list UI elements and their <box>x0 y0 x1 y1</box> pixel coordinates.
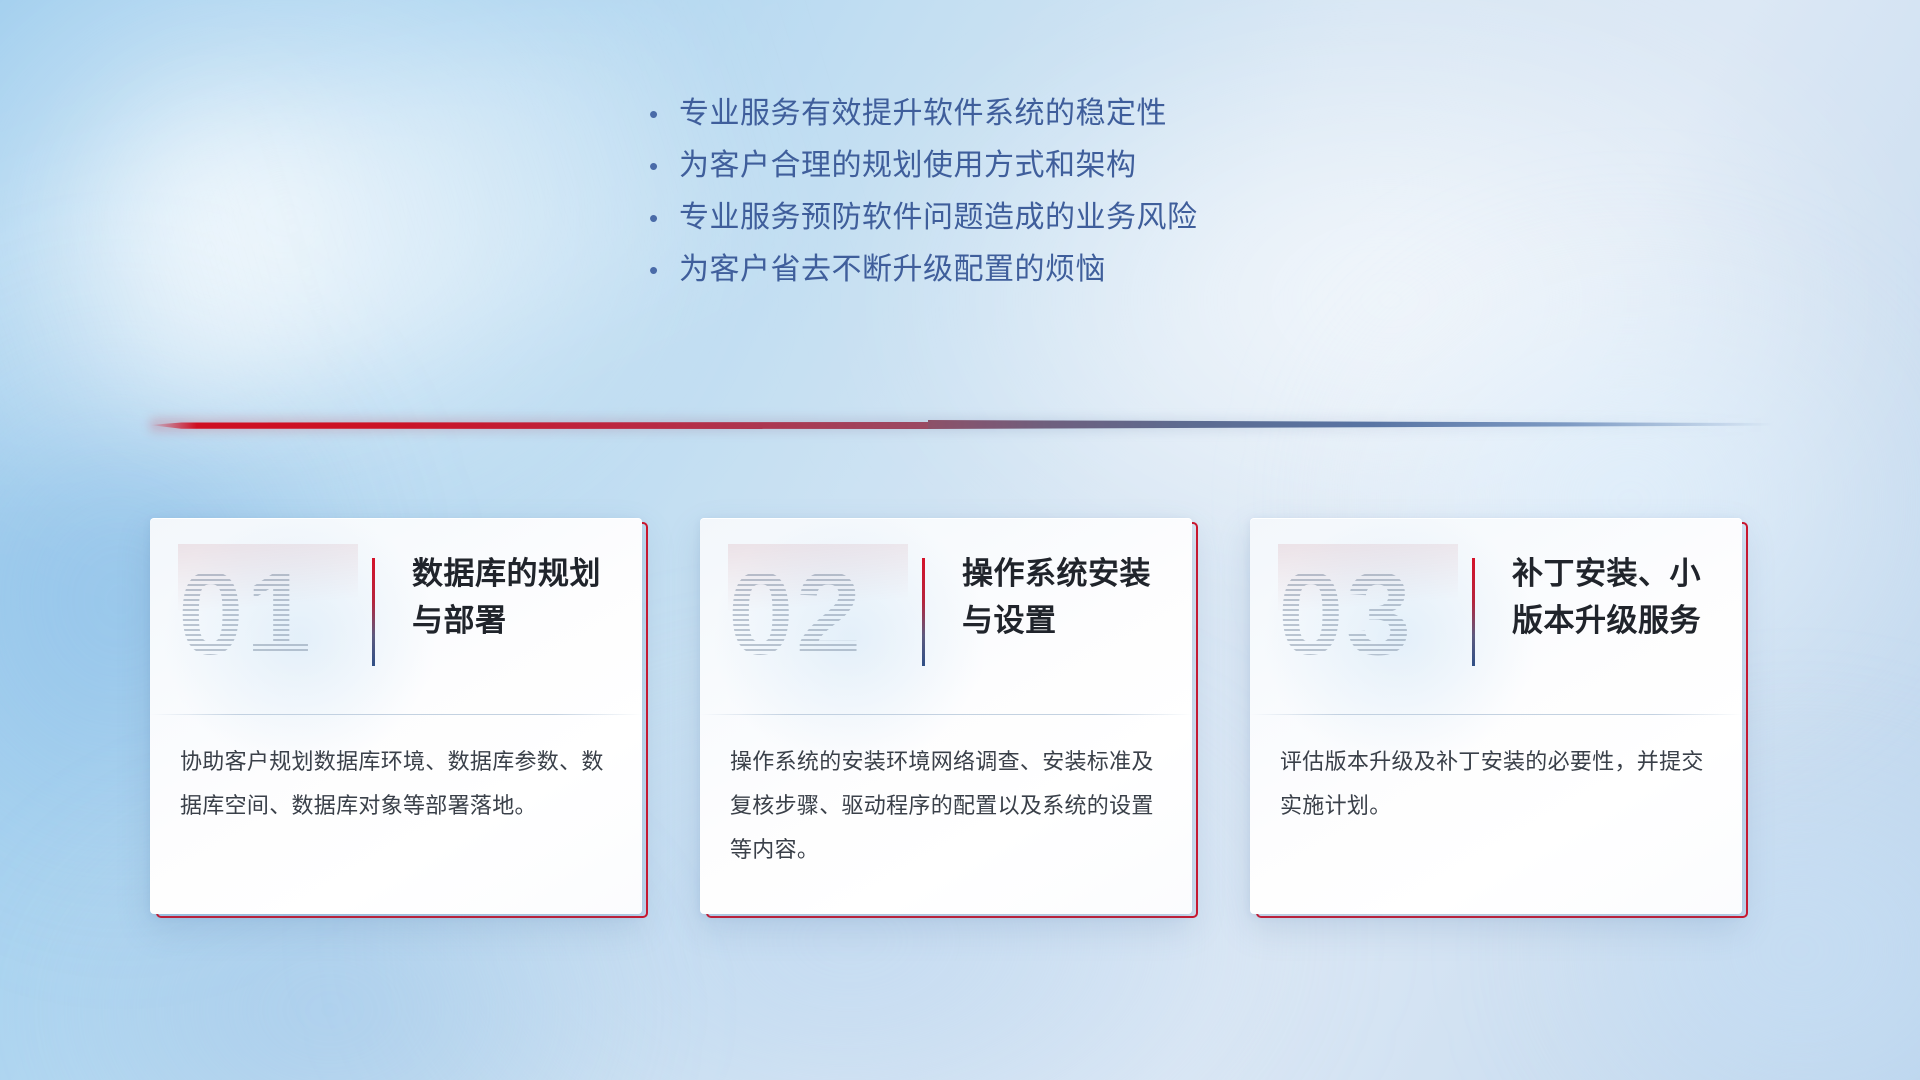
card-header: 03 补丁安装、小版本升级服务 <box>1250 518 1742 718</box>
card-number-watermark: 02 <box>728 544 908 684</box>
service-card-group: 01 数据库的规划与部署 协助客户规划数据库环境、数据库参数、数据库空间、数据库… <box>0 0 1920 1080</box>
card-header: 01 数据库的规划与部署 <box>150 518 642 718</box>
card-description: 操作系统的安装环境网络调查、安装标准及复核步骤、驱动程序的配置以及系统的设置等内… <box>730 740 1160 872</box>
card-surface: 02 操作系统安装与设置 操作系统的安装环境网络调查、安装标准及复核步骤、驱动程… <box>700 518 1192 914</box>
card-surface: 01 数据库的规划与部署 协助客户规划数据库环境、数据库参数、数据库空间、数据库… <box>150 518 642 914</box>
service-card-01[interactable]: 01 数据库的规划与部署 协助客户规划数据库环境、数据库参数、数据库空间、数据库… <box>150 518 648 918</box>
card-description: 评估版本升级及补丁安装的必要性，并提交实施计划。 <box>1280 740 1710 828</box>
card-number-watermark: 01 <box>178 544 358 684</box>
card-separator <box>700 714 1192 715</box>
card-separator <box>1250 714 1742 715</box>
service-card-03[interactable]: 03 补丁安装、小版本升级服务 评估版本升级及补丁安装的必要性，并提交实施计划。 <box>1250 518 1748 918</box>
card-title: 操作系统安装与设置 <box>962 550 1168 644</box>
card-title-accent-bar <box>1472 558 1475 666</box>
card-surface: 03 补丁安装、小版本升级服务 评估版本升级及补丁安装的必要性，并提交实施计划。 <box>1250 518 1742 914</box>
service-card-02[interactable]: 02 操作系统安装与设置 操作系统的安装环境网络调查、安装标准及复核步骤、驱动程… <box>700 518 1198 918</box>
card-title-accent-bar <box>922 558 925 666</box>
card-number-watermark: 03 <box>1278 544 1458 684</box>
card-header: 02 操作系统安装与设置 <box>700 518 1192 718</box>
card-separator <box>150 714 642 715</box>
card-title: 数据库的规划与部署 <box>412 550 618 644</box>
card-description: 协助客户规划数据库环境、数据库参数、数据库空间、数据库对象等部署落地。 <box>180 740 610 828</box>
card-title-accent-bar <box>372 558 375 666</box>
card-title: 补丁安装、小版本升级服务 <box>1512 550 1718 644</box>
